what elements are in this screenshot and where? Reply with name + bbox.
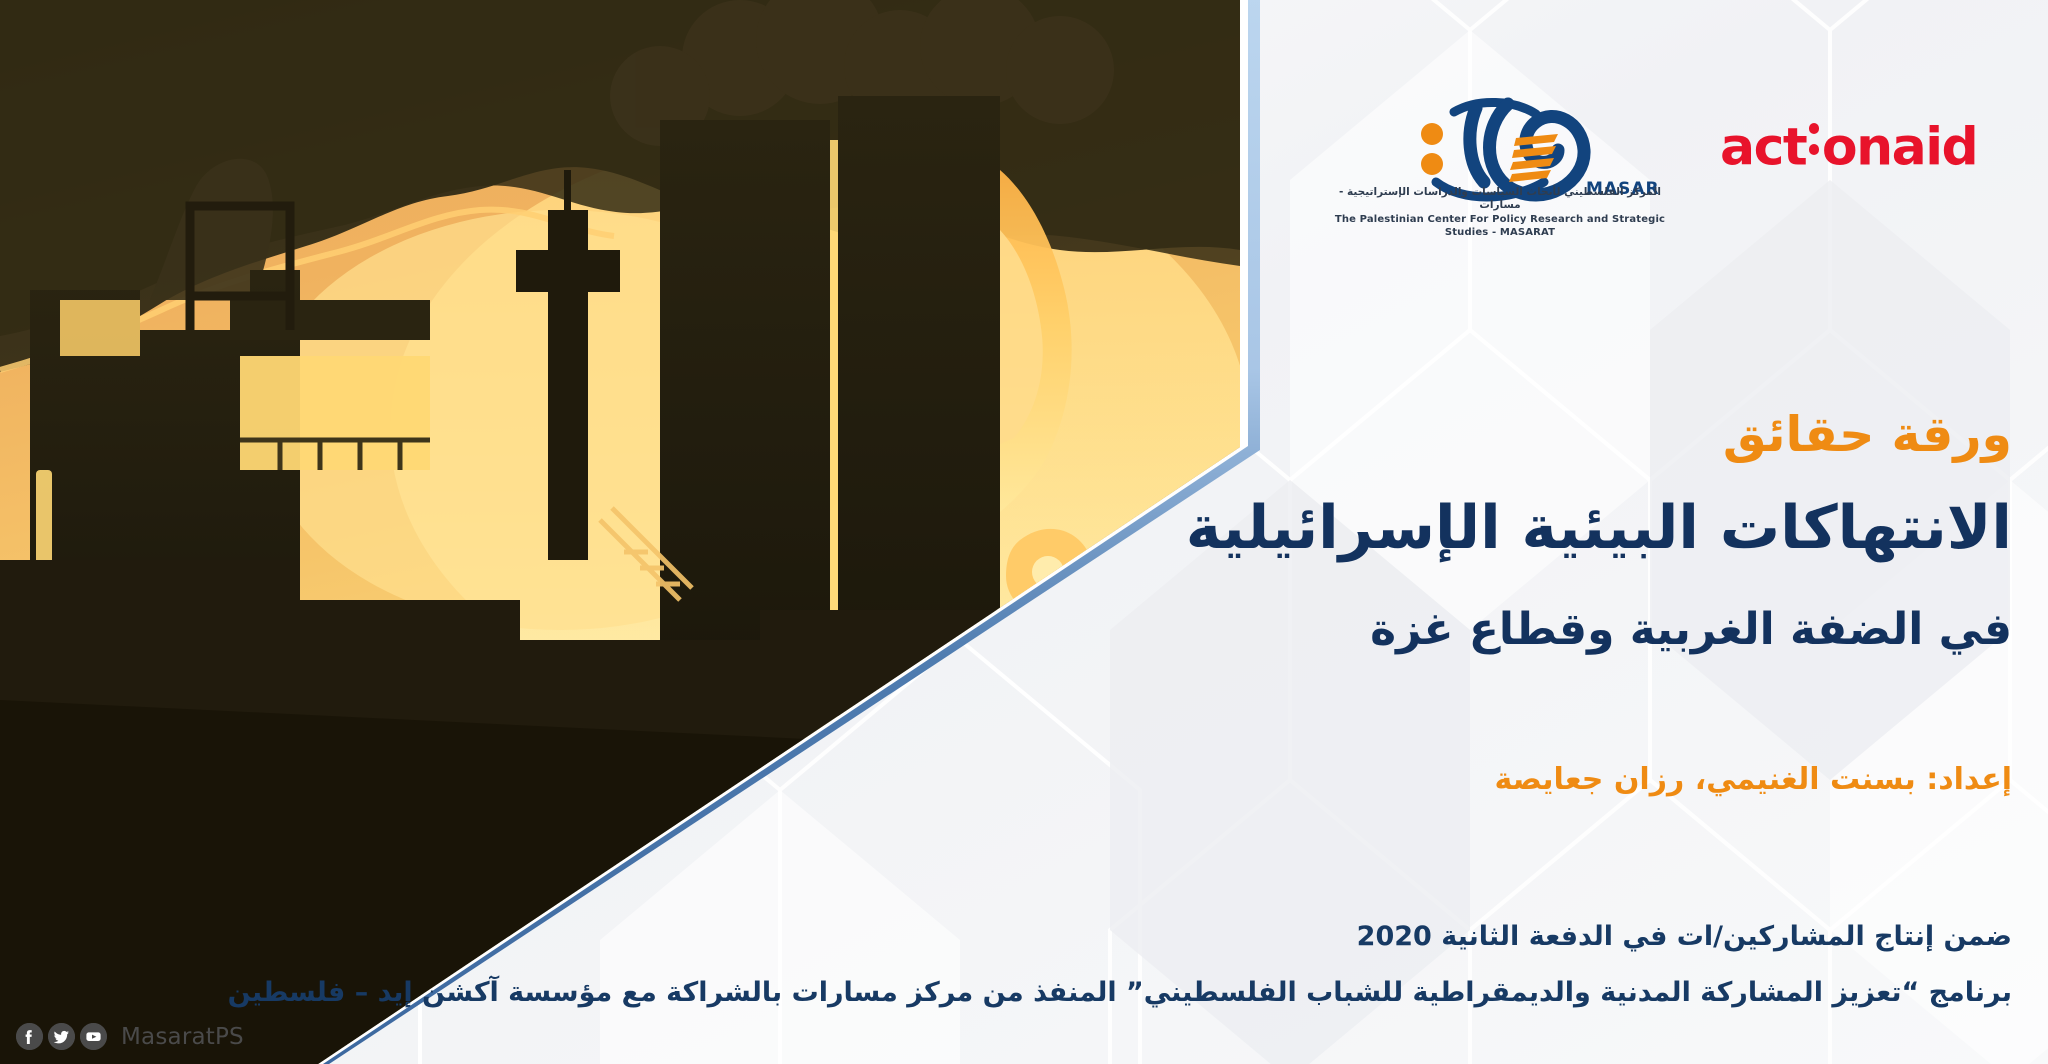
page-subtitle: في الضفة الغربية وقطاع غزة — [1002, 604, 2012, 657]
document-kicker: ورقة حقائق — [1002, 408, 2012, 462]
twitter-icon[interactable] — [48, 1023, 75, 1050]
footer-line-1: ضمن إنتاج المشاركين/ات في الدفعة الثانية… — [1002, 920, 2012, 954]
cover-page: MASARAT المركز الفلسطيني لأبحاث السياسات… — [0, 0, 2048, 1064]
social-bar[interactable]: MasaratPS — [16, 1023, 244, 1050]
authors-line: إعداد: بسنت الغنيمي، رزان جعايصة — [1002, 762, 2012, 798]
footer-line-2: برنامج “تعزيز المشاركة المدنية والديمقرا… — [222, 976, 2012, 1010]
text-column: ورقة حقائق الانتهاكات البيئية الإسرائيلي… — [1002, 0, 2012, 1064]
facebook-icon[interactable] — [16, 1023, 43, 1050]
social-handle: MasaratPS — [121, 1024, 244, 1050]
youtube-icon[interactable] — [80, 1023, 107, 1050]
page-title: الانتهاكات البيئية الإسرائيلية — [1002, 494, 2012, 563]
